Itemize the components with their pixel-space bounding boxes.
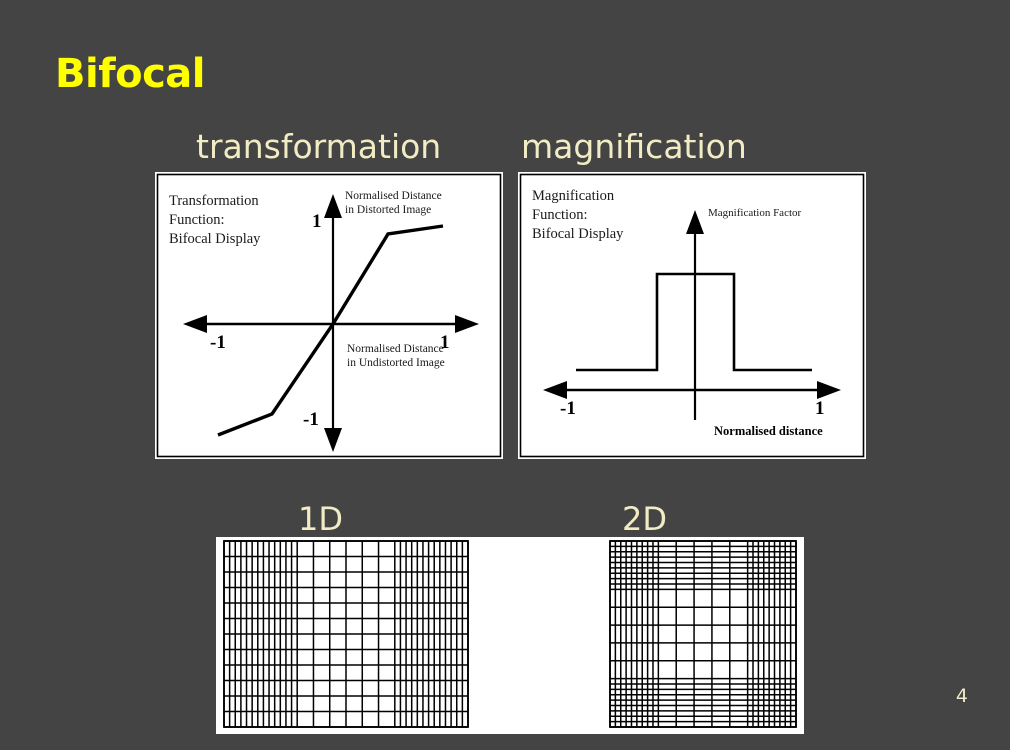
section-label-transformation: transformation: [196, 130, 441, 163]
magnification-caption-line3: Bifocal Display: [532, 226, 624, 242]
transformation-caption-line1: Transformation: [169, 193, 259, 209]
transformation-tick-x-negative: -1: [210, 332, 226, 353]
transformation-tick-y-positive: 1: [312, 211, 322, 232]
transformation-chart: Transformation Function: Bifocal Display…: [155, 172, 503, 459]
page-title: Bifocal: [55, 54, 205, 94]
transformation-caption-line3: Bifocal Display: [169, 231, 261, 247]
magnification-xlabel: Normalised distance: [714, 424, 823, 438]
magnification-tick-x-positive: 1: [815, 398, 825, 419]
slide: Bifocal transformation magnification Tra…: [0, 0, 1010, 750]
figure-transformation-function: Transformation Function: Bifocal Display…: [155, 172, 503, 459]
transformation-caption-line2: Function:: [169, 212, 225, 228]
transformation-tick-y-negative: -1: [303, 409, 319, 430]
figure-distorted-grids: [216, 537, 804, 734]
magnification-ylabel: Magnification Factor: [708, 207, 802, 219]
distorted-grids: [216, 537, 804, 734]
transformation-xlabel-line1: Normalised Distance: [347, 343, 444, 355]
transformation-xlabel-line2: in Undistorted Image: [347, 357, 445, 369]
magnification-caption-line2: Function:: [532, 207, 588, 223]
section-label-2d: 2D: [622, 503, 667, 535]
figure-magnification-function: Magnification Function: Bifocal Display …: [518, 172, 866, 459]
magnification-caption-line1: Magnification: [532, 188, 615, 204]
page-number: 4: [956, 685, 968, 707]
magnification-chart: Magnification Function: Bifocal Display …: [518, 172, 866, 459]
magnification-tick-x-negative: -1: [560, 398, 576, 419]
transformation-ylabel-line2: in Distorted Image: [345, 204, 431, 216]
transformation-ylabel-line1: Normalised Distance: [345, 190, 442, 202]
section-label-magnification: magnification: [521, 130, 747, 163]
section-label-1d: 1D: [298, 503, 343, 535]
